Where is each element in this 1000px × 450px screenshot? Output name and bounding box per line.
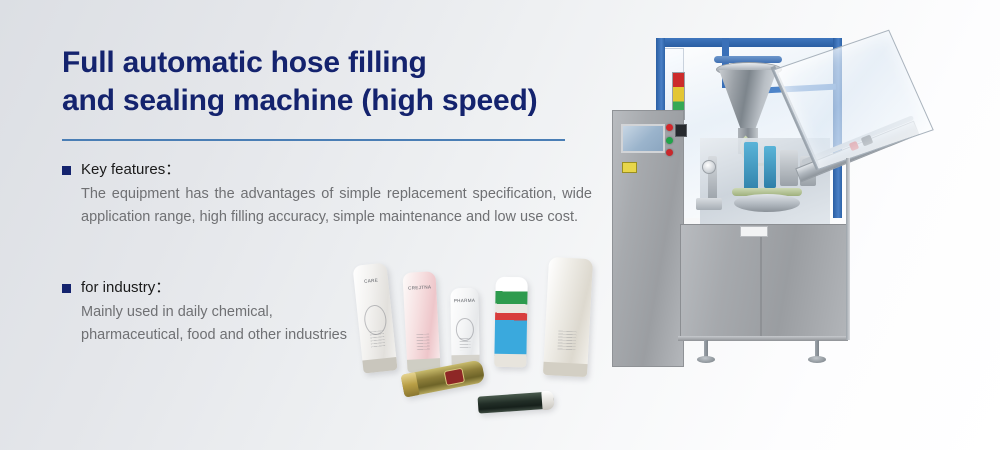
title-divider-rule: [62, 139, 565, 141]
product-tube-large-beige: [543, 257, 593, 377]
rotary-turntable: [734, 194, 800, 212]
square-bullet-icon: [62, 166, 71, 175]
tube-cap: [494, 354, 526, 368]
pressure-gauge-icon: [702, 160, 716, 174]
tube-text-lines: [370, 330, 385, 349]
product-banner: Full automatic hose filling and sealing …: [0, 0, 1000, 450]
ce-label: [622, 162, 637, 173]
product-tube-pink-cream: CREJTNA: [402, 271, 440, 373]
feature-body: Mainly used in daily chemical, pharmaceu…: [81, 301, 349, 348]
product-samples-photo: CARE CREJTNA PHARMA: [350, 252, 615, 427]
tube-cap: [543, 362, 588, 377]
lower-cabinet-door-seam: [760, 226, 762, 336]
square-bullet-icon: [62, 284, 71, 293]
tube-brand-mark: CARE: [354, 276, 388, 285]
feature-title: for industry：: [81, 278, 170, 298]
product-tube-dark-green: [477, 391, 554, 413]
feature-heading-row: Key features：: [62, 160, 592, 180]
lower-cabinet: [680, 224, 848, 340]
machine-body-right-edge: [846, 158, 850, 340]
page-title-line-1: Full automatic hose filling: [62, 44, 582, 82]
tube-cap: [362, 357, 397, 373]
page-title: Full automatic hose filling and sealing …: [62, 44, 582, 121]
feature-block-key-features: Key features： The equipment has the adva…: [62, 160, 592, 229]
machine-photo: [612, 38, 932, 370]
tube-feed-tray: [696, 198, 722, 210]
tube-emblem-icon: [444, 367, 466, 385]
machine-frame-top-rail: [656, 38, 842, 47]
tube-text-lines: [460, 338, 471, 351]
feature-block-for-industry: for industry： Mainly used in daily chemi…: [62, 278, 362, 347]
leveling-foot-pad: [808, 356, 826, 363]
start-button: [666, 137, 673, 144]
product-tube-sunplay-blue: [494, 277, 528, 368]
product-tube-small-white: PHARMA: [450, 288, 479, 368]
selector-switch: [675, 124, 687, 137]
hmi-touchscreen: [621, 124, 665, 153]
product-tube-white-cream: CARE: [352, 263, 397, 374]
feature-title: Key features：: [81, 160, 180, 180]
warning-label: [740, 226, 768, 237]
sealing-head-b: [764, 146, 776, 188]
feature-heading-row: for industry：: [62, 278, 362, 298]
tube-cap: [541, 390, 554, 410]
tube-brand-mark: CREJTNA: [403, 284, 436, 291]
sealing-head-a: [744, 142, 758, 194]
feature-body: The equipment has the advantages of simp…: [81, 183, 592, 230]
headline-block: Full automatic hose filling and sealing …: [62, 44, 582, 121]
page-title-line-2: and sealing machine (high speed): [62, 82, 582, 120]
tube-cap: [401, 372, 420, 397]
tube-brand-mark: PHARMA: [450, 298, 478, 303]
emergency-stop-button: [666, 124, 673, 131]
tube-text-lines: [416, 334, 430, 351]
stop-button: [666, 149, 673, 156]
leveling-foot-pad: [697, 356, 715, 363]
tube-text-lines: [557, 331, 576, 351]
